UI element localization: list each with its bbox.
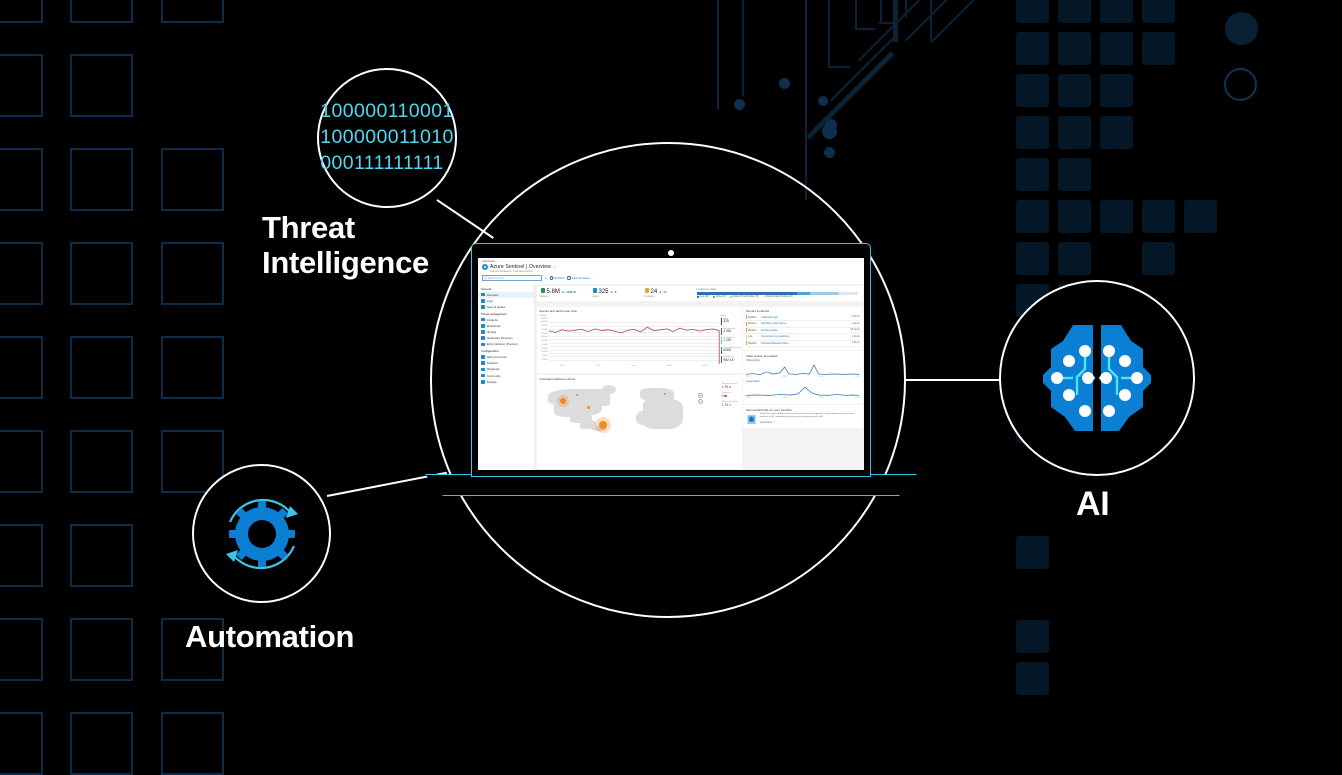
map-legend: Malicious inbound1.7KSuspicious0Maliciou… xyxy=(720,383,739,466)
legend-value: 1.2M xyxy=(723,339,734,343)
sidebar-item-label: Overview xyxy=(487,293,499,297)
sidebar-item-entity-behavior-preview[interactable]: Entity behavior (Preview) xyxy=(481,341,534,347)
sidebar-item-icon xyxy=(481,368,485,372)
y-tick: 250000 xyxy=(541,344,547,346)
kpi-delta: 1099.4K xyxy=(566,291,576,294)
search-input[interactable]: ⚲ Search (Ctrl+/) xyxy=(482,275,542,281)
legend-swatch xyxy=(721,328,722,335)
table-row[interactable]: MediumPotential Password Spray1 Alerts xyxy=(746,341,859,348)
status-segment xyxy=(839,292,858,295)
map-legend-swatch xyxy=(724,395,726,397)
sidebar-item-icon xyxy=(481,299,485,303)
x-tick: Jan 5 xyxy=(560,365,565,367)
sidebar-item-icon xyxy=(481,380,485,384)
status-legend-item: Active (0) xyxy=(713,296,726,298)
sidebar-item-label: Data connectors xyxy=(487,355,507,359)
events-chart-legend: Alerts Alerts325SecurityEvent2.0MSecurit… xyxy=(719,315,739,371)
alert-count: 1 Alerts xyxy=(848,316,860,318)
status-segment xyxy=(810,292,839,295)
alerts-icon xyxy=(593,288,598,293)
y-tick: 300000 xyxy=(541,340,547,342)
y-tick: 50000 xyxy=(542,359,547,361)
binary-code-icon: 100000110001 100000011010 000111111111 xyxy=(320,99,454,176)
x-tick: 01/07 xyxy=(783,397,788,399)
laptop-screen: Dashboard > Azure Sentinel | Overview ☆ … xyxy=(478,258,864,470)
sidebar-item-label: Analytics xyxy=(487,361,498,365)
severity-cell: Low xyxy=(746,335,759,339)
events-icon xyxy=(541,288,546,293)
ml-promo-body: Unlock the power of AI for security prof… xyxy=(760,413,860,419)
recent-incidents-card: Recent incidents MediumUnfamiliar login1… xyxy=(743,307,862,350)
legend-swatch xyxy=(721,337,722,344)
x-tick: 01/09 xyxy=(819,397,824,399)
trend-arrow-icon: ▲ xyxy=(659,290,662,294)
y-tick: 600000 xyxy=(541,318,547,320)
bar-plot xyxy=(549,319,719,364)
kpi-events: 5.8M▲1099.4KEvents xyxy=(541,288,581,298)
y-tick: 550000 xyxy=(541,321,547,323)
sparkline xyxy=(746,363,859,376)
azure-sentinel-dashboard: Dashboard > Azure Sentinel | Overview ☆ … xyxy=(478,258,864,470)
sidebar-item-icon xyxy=(481,343,485,347)
webcam-icon xyxy=(668,250,674,256)
legend-swatch xyxy=(721,318,722,325)
node-label-threat-intelligence: ThreatIntelligence xyxy=(262,211,429,280)
map-legend-value: 1.7K xyxy=(722,385,739,389)
y-tick: 100000 xyxy=(541,355,547,357)
search-placeholder: Search (Ctrl+/) xyxy=(488,277,504,280)
severity-cell: Medium xyxy=(746,315,759,319)
sidebar-item-icon xyxy=(481,324,485,328)
incidents-by-status-title: Incidents by status xyxy=(697,288,859,291)
laptop-base xyxy=(425,474,917,496)
status-legend: New (24)Active (0)Closed (True Positive)… xyxy=(697,296,859,298)
chevron-down-icon: ⌄ xyxy=(591,276,594,280)
kpi-value: 24 xyxy=(651,289,658,295)
status-segment xyxy=(697,292,797,295)
sparkline-row: SecurityAlert01/0501/0701/0901/11 xyxy=(746,380,859,399)
map-legend-swatch xyxy=(729,404,731,406)
alert-count: 1 Alerts xyxy=(848,342,860,344)
sidebar-item-icon xyxy=(481,374,485,378)
workspace-subtitle: Selected workspace: 'CyberSecurityOps' xyxy=(490,270,860,273)
kpi-label: Incidents xyxy=(645,295,685,298)
events-chart-ylabel: Events xyxy=(540,315,719,317)
sentinel-logo-icon xyxy=(482,264,488,270)
x-tick: Jan 11 xyxy=(667,365,673,367)
node-ai[interactable] xyxy=(999,280,1195,476)
events-chart-plot: Events 600000550000500000450000400000350… xyxy=(540,315,719,371)
kpi-label: Alerts xyxy=(593,295,633,298)
time-range-button[interactable]: Last 24 hours ⌄ xyxy=(567,276,593,280)
kpi-value: 5.8M xyxy=(547,289,560,295)
connector-ai xyxy=(905,379,1001,381)
clock-icon xyxy=(567,276,571,280)
sidebar-item-label: Settings xyxy=(487,380,497,384)
sidebar-item-settings[interactable]: Settings xyxy=(481,379,534,385)
plus-icon[interactable]: + xyxy=(698,393,703,398)
kpi-incidents: 24▲10Incidents xyxy=(645,288,685,298)
map-legend-item: Malicious outbound1.7K xyxy=(722,401,739,407)
status-legend-item: Closed (True Positive) (0) xyxy=(730,296,759,298)
kpi-delta: 10 xyxy=(664,291,667,294)
y-tick: 400000 xyxy=(541,333,547,335)
severity-cell: Medium xyxy=(746,322,759,326)
anomalies-card: Data source anomalies OfficeActivity01/0… xyxy=(743,351,862,404)
legend-header: Alerts xyxy=(721,315,739,317)
dashboard-content: 5.8M▲1099.4KEvents325▲6Alerts24▲10Incide… xyxy=(535,284,864,470)
trend-arrow-icon: ▲ xyxy=(561,290,564,294)
x-tick: Jan 7 xyxy=(596,365,601,367)
brain-circuit-icon xyxy=(1033,317,1161,439)
sidebar-item-label: Entity behavior (Preview) xyxy=(487,342,518,346)
sidebar-item-label: Community xyxy=(487,374,501,378)
kpi-alerts: 325▲6Alerts xyxy=(593,288,633,298)
dashboard-sidebar: GeneralOverviewLogsNews & guidesThreat m… xyxy=(478,284,535,470)
sidebar-item-label: Logs xyxy=(487,299,493,303)
y-tick: 200000 xyxy=(541,348,547,350)
x-tick: 01/09 xyxy=(819,376,824,378)
map-legend-value: 1.7K xyxy=(722,403,739,407)
search-icon: ⚲ xyxy=(485,276,487,280)
sidebar-item-icon xyxy=(481,318,485,322)
anomalies-title: Data source anomalies xyxy=(746,354,859,358)
status-segment xyxy=(797,292,810,295)
alert-count: 1 Alerts xyxy=(848,336,860,338)
ml-promo-card: Democratize ML for your SecOps xyxy=(743,405,862,428)
time-range-label: Last 24 hours xyxy=(572,276,590,280)
legend-value: 2.0M xyxy=(723,330,735,334)
world-map[interactable]: + − xyxy=(540,383,720,466)
sparkline-row: OfficeActivity01/0501/0701/0901/11 xyxy=(746,359,859,378)
alert-count: 1 Alerts xyxy=(848,323,860,325)
breadcrumb[interactable]: Dashboard > xyxy=(482,260,860,263)
refresh-label: Refresh xyxy=(554,276,564,280)
severity-bar xyxy=(746,322,747,326)
legend-swatch xyxy=(721,347,722,354)
x-tick: 01/05 xyxy=(746,397,751,399)
kpi-delta: 6 xyxy=(615,291,617,294)
ml-book-icon xyxy=(746,413,757,425)
sidebar-group-header: Threat management xyxy=(481,313,534,316)
y-tick: 350000 xyxy=(541,336,547,338)
status-swatch xyxy=(713,296,715,298)
node-label-automation: Automation xyxy=(185,620,354,655)
status-legend-label: Active (0) xyxy=(716,296,726,298)
collapse-icon[interactable]: ^ xyxy=(537,302,863,305)
severity-bar xyxy=(746,315,747,319)
severity-cell: Medium xyxy=(746,341,759,345)
status-legend-label: Closed (False Positive) (0) xyxy=(766,296,793,298)
x-tick: 01/11 xyxy=(855,397,859,399)
events-chart-card: Events and alerts over time Events 60000… xyxy=(537,307,742,374)
status-legend-label: Closed (True Positive) (0) xyxy=(733,296,759,298)
sidebar-item-news-guides[interactable]: News & guides xyxy=(481,304,534,310)
incident-name-link[interactable]: Potential Password Spray xyxy=(761,342,845,345)
events-chart-title: Events and alerts over time xyxy=(540,309,739,313)
y-tick: 0 xyxy=(546,363,547,365)
x-tick: 01/05 xyxy=(746,376,751,378)
incident-name-link[interactable]: Prompt escape xyxy=(761,329,845,332)
sidebar-group-header: Configuration xyxy=(481,350,534,353)
alert-count: 60 Alerts xyxy=(848,329,860,331)
ml-promo-link[interactable]: Learn More > xyxy=(760,421,860,424)
status-swatch xyxy=(763,296,765,298)
x-tick: Jan 13 xyxy=(702,365,708,367)
legend-value: 325 xyxy=(723,320,729,324)
minus-icon[interactable]: − xyxy=(698,399,703,404)
laptop-mockup: Dashboard > Azure Sentinel | Overview ☆ … xyxy=(425,243,917,498)
trend-arrow-icon: ▲ xyxy=(610,290,613,294)
y-tick: 450000 xyxy=(541,329,547,331)
legend-item[interactable]: AzureActivity982.1K xyxy=(721,356,739,363)
sidebar-group-header: General xyxy=(481,288,534,291)
status-swatch xyxy=(730,296,732,298)
map-card: Potential malicious events xyxy=(537,375,742,469)
kpi-value: 325 xyxy=(599,289,609,295)
x-axis: Jan 5Jan 7Jan 9Jan 11Jan 13 xyxy=(549,365,719,371)
sidebar-item-label: Workbooks xyxy=(487,324,501,328)
severity-bar xyxy=(746,328,747,332)
x-tick: Jan 9 xyxy=(631,365,636,367)
gear-cycle-icon xyxy=(206,478,318,590)
severity-bar xyxy=(746,335,747,339)
sidebar-item-icon xyxy=(481,293,485,297)
status-legend-item: Closed (False Positive) (0) xyxy=(763,296,793,298)
severity-bar xyxy=(746,341,747,345)
sidebar-item-label: Playbooks xyxy=(487,367,500,371)
sidebar-item-label: Notebooks (Preview) xyxy=(487,336,513,340)
connector-threat xyxy=(436,199,493,239)
status-swatch xyxy=(697,296,699,298)
sidebar-item-icon xyxy=(481,361,485,365)
alerts-line xyxy=(549,319,719,364)
legend-item[interactable]: CommonSecurityLog636K xyxy=(721,347,739,354)
incidents-by-status: Incidents by status New (24)Active (0)Cl… xyxy=(697,288,859,298)
legend-swatch xyxy=(721,356,722,363)
severity-cell: Medium xyxy=(746,328,759,332)
status-bar xyxy=(697,292,859,295)
sparkline xyxy=(746,384,859,397)
map-title: Potential malicious events xyxy=(540,377,739,381)
dashboard-header: Dashboard > Azure Sentinel | Overview ☆ … xyxy=(478,258,864,284)
sidebar-item-label: Incidents xyxy=(487,318,498,322)
map-legend-value: 0 xyxy=(722,394,739,398)
kpi-row: 5.8M▲1099.4KEvents325▲6Alerts24▲10Incide… xyxy=(537,286,863,301)
sparkline-xticks: 01/0501/0701/0901/11 xyxy=(746,376,859,378)
laptop-lid: Dashboard > Azure Sentinel | Overview ☆ … xyxy=(471,243,871,477)
y-tick: 150000 xyxy=(541,351,547,353)
node-automation[interactable] xyxy=(192,464,331,603)
incident-name-link[interactable]: Connections to suspicious... xyxy=(761,335,845,338)
map-legend-swatch xyxy=(729,386,731,388)
sidebar-item-icon xyxy=(481,305,485,309)
node-label-ai: AI xyxy=(1076,485,1109,523)
sidebar-item-icon xyxy=(481,330,485,334)
status-legend-item: New (24) xyxy=(697,296,709,298)
incident-name-link[interactable]: Possible contact with a... xyxy=(761,322,845,325)
status-legend-label: New (24) xyxy=(700,296,709,298)
legend-value: 636K xyxy=(723,349,741,353)
recent-incidents-title: Recent incidents xyxy=(746,309,859,313)
sidebar-item-label: Hunting xyxy=(487,330,497,334)
sparkline-xticks: 01/0501/0701/0901/11 xyxy=(746,397,859,399)
y-tick: 500000 xyxy=(541,325,547,327)
legend-item[interactable]: SecurityEvent2.0M xyxy=(721,328,739,335)
x-tick: 01/11 xyxy=(855,376,859,378)
legend-item[interactable]: SecurityAlert1.2M xyxy=(721,337,739,344)
chevron-left-icon[interactable]: « xyxy=(545,276,547,280)
ml-promo-title: Democratize ML for your SecOps xyxy=(746,408,859,412)
incidents-icon xyxy=(645,288,650,293)
legend-item[interactable]: Alerts325 xyxy=(721,318,739,325)
refresh-button[interactable]: Refresh xyxy=(550,276,565,280)
x-tick: 01/07 xyxy=(783,376,788,378)
kpi-label: Events xyxy=(541,295,581,298)
map-legend-item: Malicious inbound1.7K xyxy=(722,383,739,389)
sidebar-item-icon xyxy=(481,336,485,340)
node-threat-intelligence[interactable]: 100000110001 100000011010 000111111111 xyxy=(317,68,457,208)
map-zoom-controls[interactable]: + − xyxy=(698,393,703,405)
map-legend-item: Suspicious0 xyxy=(722,392,739,398)
sidebar-item-label: News & guides xyxy=(487,305,506,309)
refresh-icon xyxy=(550,276,554,280)
sidebar-item-icon xyxy=(481,355,485,359)
legend-value: 982.1K xyxy=(723,359,734,363)
incident-name-link[interactable]: Unfamiliar login xyxy=(761,316,845,319)
star-icon[interactable]: ☆ xyxy=(553,265,556,269)
